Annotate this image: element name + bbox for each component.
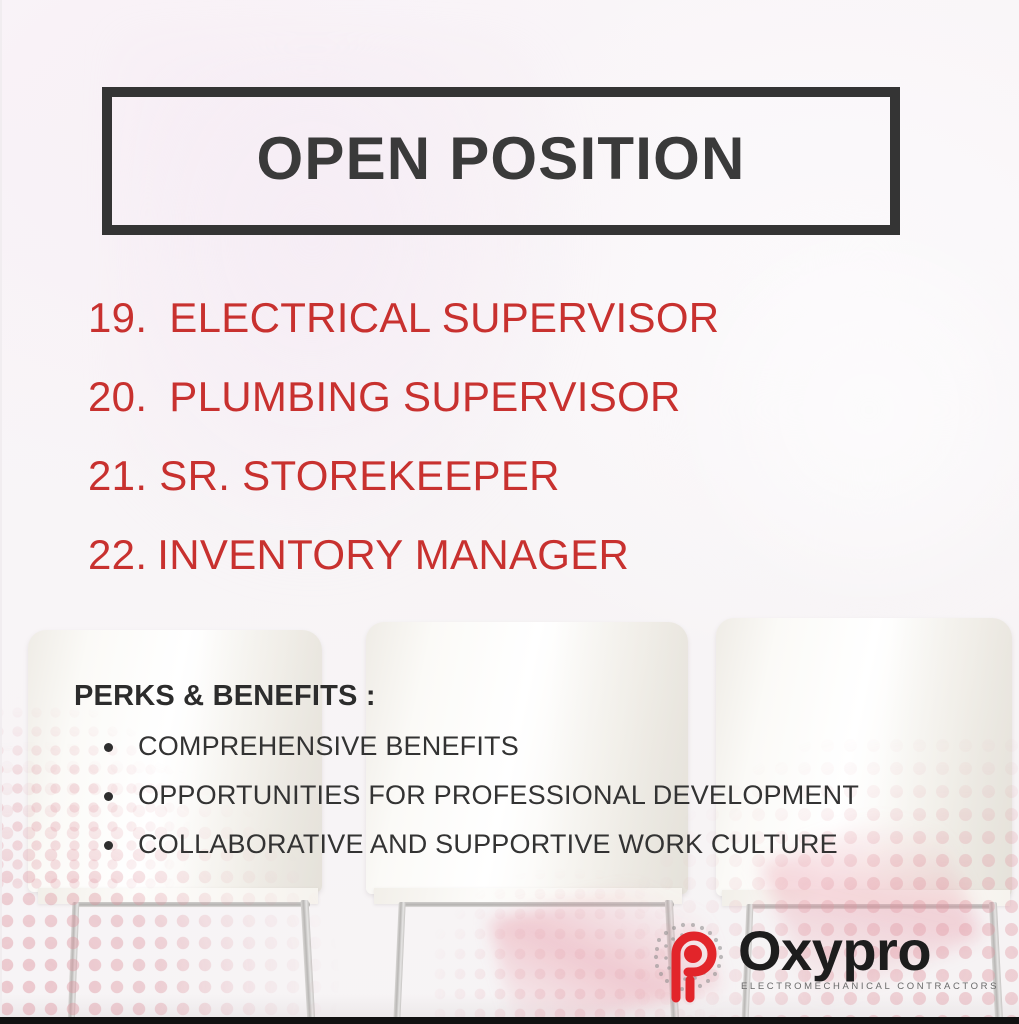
bullet-icon <box>104 792 113 801</box>
perks-list: COMPREHENSIVE BENEFITS OPPORTUNITIES FOR… <box>74 733 974 858</box>
position-number: 22. <box>88 531 147 579</box>
chair-leg <box>393 902 405 1022</box>
position-title: ELECTRICAL SUPERVISOR <box>169 294 719 342</box>
perks-item-label: OPPORTUNITIES FOR PROFESSIONAL DEVELOPME… <box>138 780 859 810</box>
perks-list-item: COLLABORATIVE AND SUPPORTIVE WORK CULTUR… <box>104 831 974 858</box>
position-number: 21. <box>88 452 147 500</box>
logo-wordmark: Oxypro <box>738 924 999 977</box>
position-title: PLUMBING SUPERVISOR <box>169 373 680 421</box>
chair-leg <box>68 902 80 1024</box>
left-edge-strip <box>0 0 2 1024</box>
perks-item-label: COLLABORATIVE AND SUPPORTIVE WORK CULTUR… <box>138 829 838 859</box>
position-number: 20. <box>88 373 147 421</box>
company-logo: Oxypro ELECTROMECHANICAL CONTRACTORS <box>648 918 968 1010</box>
perks-list-item: COMPREHENSIVE BENEFITS <box>104 733 974 760</box>
position-item: 21. SR. STOREKEEPER <box>88 452 928 531</box>
bottom-bar <box>0 1017 1019 1024</box>
position-title: INVENTORY MANAGER <box>157 531 629 579</box>
position-item: 20. PLUMBING SUPERVISOR <box>88 373 928 452</box>
logo-inner-dot <box>684 945 702 963</box>
position-title: SR. STOREKEEPER <box>159 452 560 500</box>
position-item: 19. ELECTRICAL SUPERVISOR <box>88 294 928 373</box>
position-number: 19. <box>88 294 147 342</box>
page-title: OPEN POSITION <box>256 129 745 193</box>
header-frame: OPEN POSITION <box>102 87 900 235</box>
position-item: 22. INVENTORY MANAGER <box>88 531 928 610</box>
logo-text-block: Oxypro ELECTROMECHANICAL CONTRACTORS <box>738 918 999 992</box>
job-posting-poster: OPEN POSITION 19. ELECTRICAL SUPERVISOR … <box>0 0 1019 1024</box>
bullet-icon <box>104 841 113 850</box>
chair-leg <box>301 900 316 1024</box>
oxypro-p-monogram-icon <box>648 918 732 1006</box>
chair-crossbar <box>74 902 310 907</box>
perks-item-label: COMPREHENSIVE BENEFITS <box>138 731 519 761</box>
open-positions-list: 19. ELECTRICAL SUPERVISOR 20. PLUMBING S… <box>88 294 928 610</box>
perks-list-item: OPPORTUNITIES FOR PROFESSIONAL DEVELOPME… <box>104 782 974 809</box>
bullet-icon <box>104 743 113 752</box>
perks-heading: PERKS & BENEFITS : <box>74 680 974 713</box>
perks-section: PERKS & BENEFITS : COMPREHENSIVE BENEFIT… <box>74 680 974 880</box>
logo-tagline: ELECTROMECHANICAL CONTRACTORS <box>741 981 999 992</box>
